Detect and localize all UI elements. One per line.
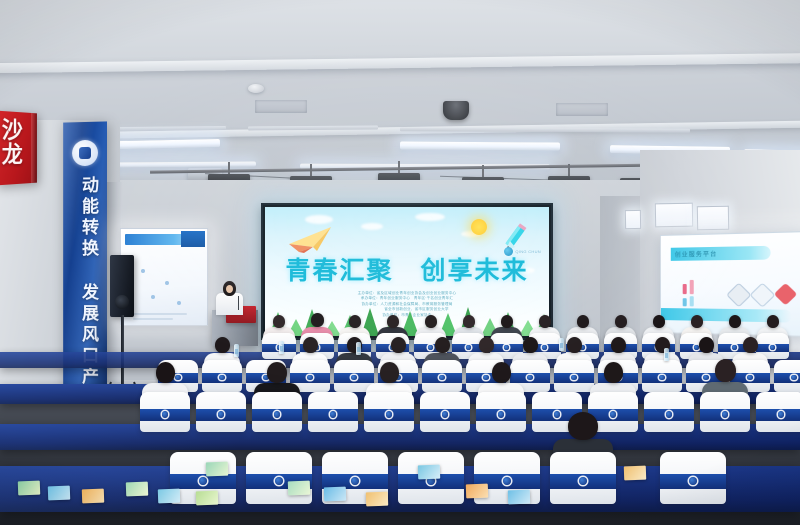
water-bottle [664,348,669,361]
brochure [288,481,310,496]
audience-chair [422,360,462,392]
presenter-face [226,285,233,293]
display-header-tab [181,231,205,247]
paper-airplane-icon [287,225,333,253]
chair-buckle-icon [554,411,560,417]
attendee-head [729,315,741,328]
water-bottle [279,341,284,354]
audience-chair [252,392,302,432]
water-bottle [559,338,564,351]
high-window [655,203,693,228]
brochure [196,491,218,506]
attendee-head [479,337,494,353]
chair-buckle-icon [542,345,546,349]
brochure [206,462,228,477]
attendee-head [492,362,511,383]
audience-chair [756,392,800,432]
ceiling-vent [556,103,608,116]
blue-vertical-banner: 动能转换 发展风口产业 [63,121,107,422]
banner-fold [31,113,37,183]
attendee-head [435,337,450,353]
microphone-stand [238,296,239,310]
brochure [158,489,180,504]
brochure [418,465,440,480]
dome-camera-icon [443,101,469,120]
chair-buckle-icon [218,411,224,417]
conference-hall-photo: 沙龙 动能转换 发展风口产业 [0,0,800,525]
brochure [126,482,148,497]
attendee-head [387,315,399,328]
display-node [165,281,169,285]
chair-buckle-icon [694,345,698,349]
brochure [48,486,70,501]
audience-chair [476,392,526,432]
attendee-head [391,337,406,353]
water-bottle [234,344,239,357]
chair-buckle-icon [330,411,336,417]
audience-chair [660,452,726,504]
attendee-head [615,315,627,328]
attendee-head [767,315,779,328]
strip-light [106,161,256,167]
audience-chair [550,452,616,504]
attendee-head [539,315,551,328]
strip-light [400,141,560,150]
chair-buckle-icon [498,411,504,417]
display-node [177,301,181,305]
side-chart-bar [683,298,687,306]
chair-buckle-icon [610,411,616,417]
attendee-head [523,337,538,353]
attendee-head [303,337,318,353]
display-line [133,313,187,315]
audience-chair [246,452,312,504]
diamond-icon [726,282,751,307]
attendee-head [653,315,665,328]
audience-chair [644,392,694,432]
chair-buckle-icon [162,411,168,417]
display-node [141,269,145,273]
audience-chair [420,392,470,432]
attendee-head [349,315,361,328]
attendee-head [463,315,475,328]
attendee-head [501,315,513,328]
side-chart-bar [690,296,694,306]
attendee-head [425,315,437,328]
chair-buckle-icon [722,411,728,417]
highlight-diamond-icon [774,283,798,306]
high-window [697,206,729,231]
ceiling-upper-plane [0,0,800,62]
attendee-head [577,315,589,328]
attendee-head [156,362,175,383]
ceiling-vent [255,100,307,113]
chair-buckle-icon [504,345,508,349]
sun-icon [471,219,487,235]
display-node [151,295,155,299]
chair-buckle-icon [466,345,470,349]
pa-speaker [110,255,134,317]
attendee-head [568,412,598,440]
display-line [133,318,173,320]
brochure [324,487,346,502]
chair-buckle-icon [778,411,784,417]
audience-chair [196,392,246,432]
audience-chair [364,392,414,432]
side-chart-bar [690,280,694,294]
attendee-head [267,362,287,383]
attendee-head [311,313,324,327]
chair-buckle-icon [666,411,672,417]
cloud-decoration [305,215,333,224]
red-banner-text: 沙龙 [0,117,22,167]
brochure [508,490,530,505]
banner-gloss [63,121,107,422]
chair-buckle-icon [386,411,392,417]
audience-chair [642,360,682,392]
side-screen-header-text: 创业服务平台 [675,249,718,259]
brochure [466,484,488,499]
attendee-head [691,315,703,328]
brochure [624,466,646,481]
attendee-head [567,337,582,353]
chair-buckle-icon [274,411,280,417]
audience-chair [554,360,594,392]
side-chart-bar [683,284,687,294]
brochure [18,481,40,496]
chair-buckle-icon [732,345,736,349]
attendee-head [380,362,399,383]
cloud-decoration [361,223,383,230]
smoke-detector-icon [248,84,264,93]
high-window [625,210,641,229]
diamond-icon [749,282,775,307]
attendee-head [611,337,626,353]
audience-chair [202,360,242,392]
brochure [82,489,104,504]
cloud-decoration [415,213,445,221]
attendee-head [273,315,285,328]
audience-chair [308,392,358,432]
audience-chair [140,392,190,432]
audience-chair [774,360,800,392]
audience-chair [700,392,750,432]
slide-title: 青春汇聚 创享未来 [265,251,549,287]
water-bottle [356,342,361,355]
chair-buckle-icon [428,345,432,349]
chair-buckle-icon [442,411,448,417]
attendee-head [604,362,623,383]
attendee-head [743,337,758,353]
attendee-head [215,337,230,353]
attendee-head [699,337,714,353]
red-hanging-banner: 沙龙 [0,111,37,186]
brochure [366,492,388,507]
chair-buckle-icon [770,345,774,349]
attendee-head [715,359,736,382]
